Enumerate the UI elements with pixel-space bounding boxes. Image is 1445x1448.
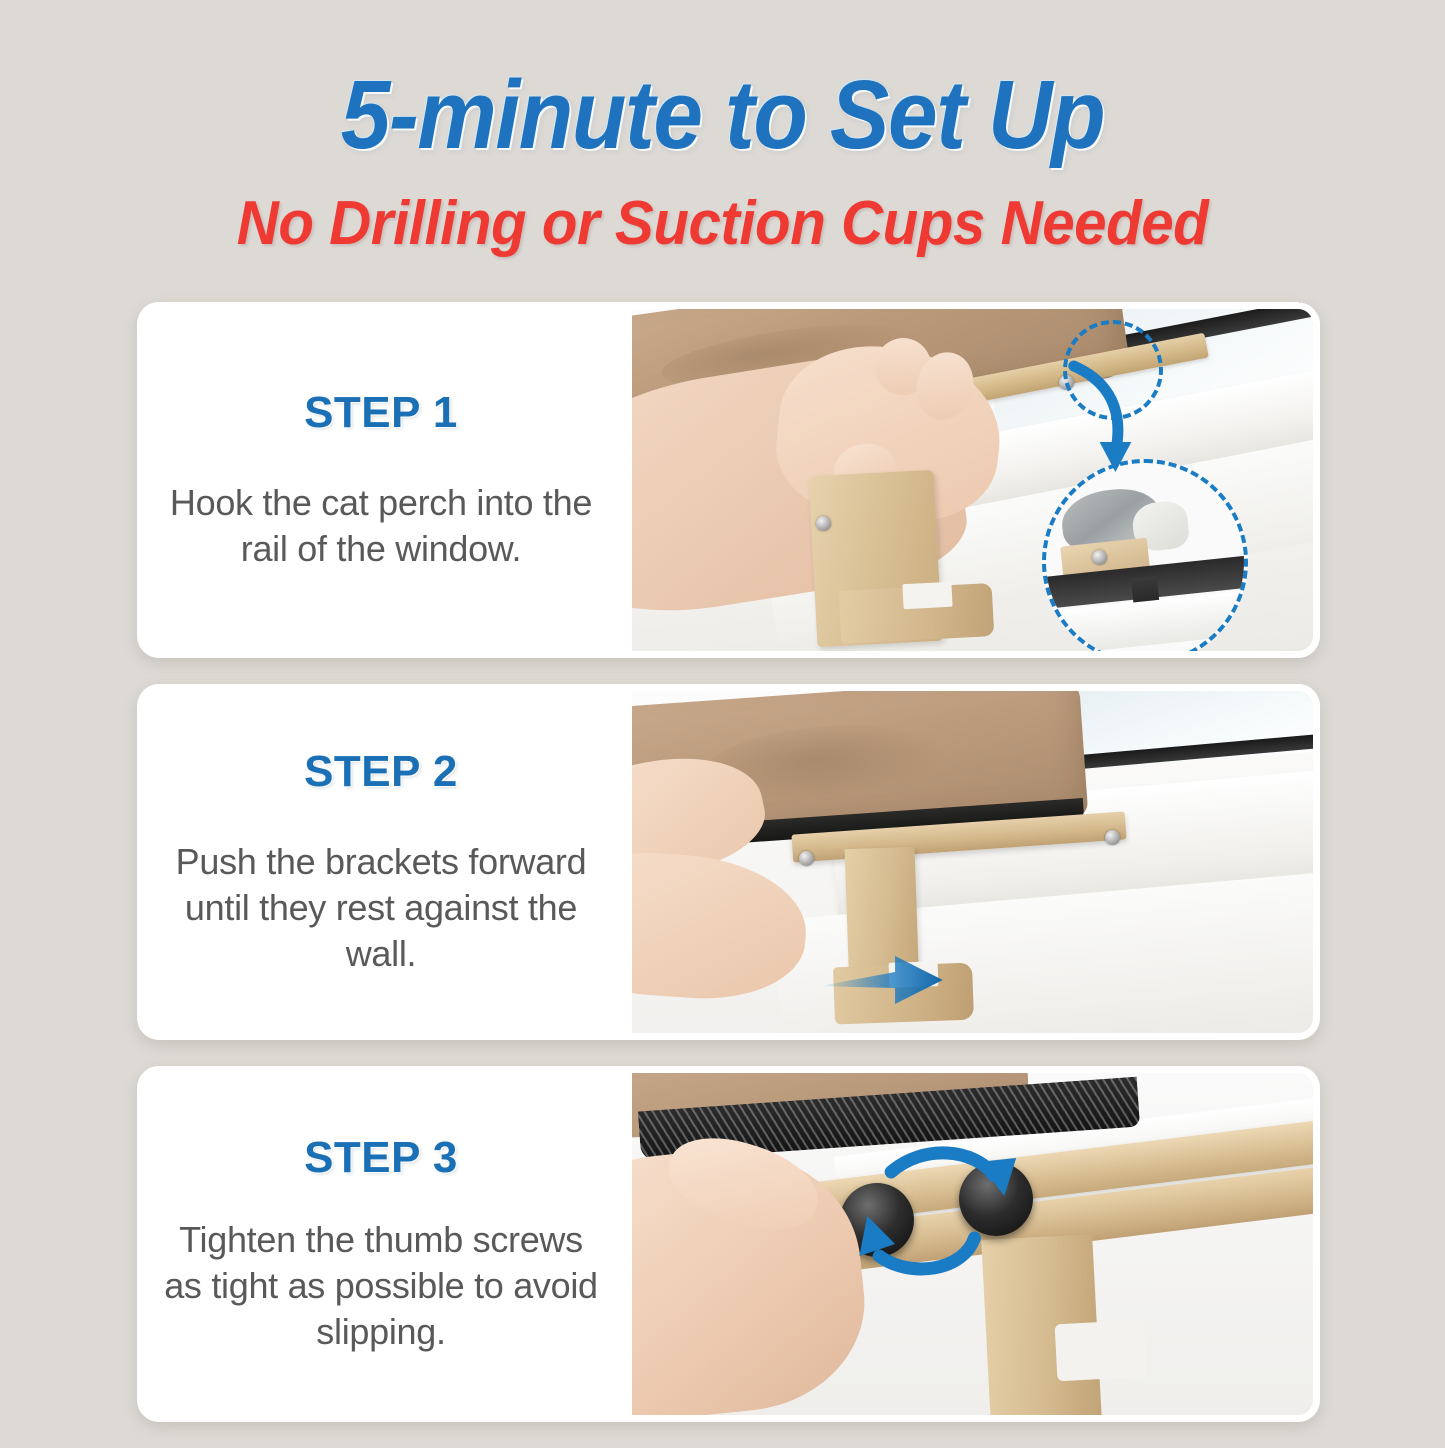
step-2-arrow-overlay xyxy=(625,684,1320,1040)
step-1-description: Hook the cat perch into the rail of the … xyxy=(163,480,599,572)
step-2-label: STEP 2 xyxy=(304,747,458,797)
page-title: 5-minute to Set Up xyxy=(58,66,1387,163)
step-2-description: Push the brackets forward until they res… xyxy=(163,839,599,977)
step-3-label: STEP 3 xyxy=(304,1133,458,1183)
step-3-photo xyxy=(625,1066,1320,1422)
step-1-arrow-overlay xyxy=(625,302,1320,658)
step-2-text-column: STEP 2 Push the brackets forward until t… xyxy=(137,684,625,1040)
step-2-photo xyxy=(625,684,1320,1040)
rotation-arrow-bottom-head xyxy=(859,1216,895,1256)
step-3-arrow-overlay xyxy=(625,1066,1320,1422)
step-card-3: STEP 3 Tighten the thumb screws as tight… xyxy=(137,1066,1320,1422)
curved-down-arrow-head xyxy=(1100,442,1132,472)
step-1-photo xyxy=(625,302,1320,658)
step-card-2: STEP 2 Push the brackets forward until t… xyxy=(137,684,1320,1040)
step-3-description: Tighten the thumb screws as tight as pos… xyxy=(163,1217,599,1355)
step-1-text-column: STEP 1 Hook the cat perch into the rail … xyxy=(137,302,625,658)
header: 5-minute to Set Up No Drilling or Suctio… xyxy=(0,0,1445,255)
rotation-arrow-top xyxy=(891,1153,994,1176)
rotation-arrow-top-head xyxy=(978,1158,1016,1196)
step-card-1: STEP 1 Hook the cat perch into the rail … xyxy=(137,302,1320,658)
step-1-label: STEP 1 xyxy=(304,388,458,438)
step-3-text-column: STEP 3 Tighten the thumb screws as tight… xyxy=(137,1066,625,1422)
straight-right-arrow xyxy=(820,956,943,1004)
curved-down-arrow xyxy=(1074,366,1118,452)
steps-list: STEP 1 Hook the cat perch into the rail … xyxy=(137,302,1320,1448)
page-subtitle: No Drilling or Suction Cups Needed xyxy=(43,193,1401,255)
